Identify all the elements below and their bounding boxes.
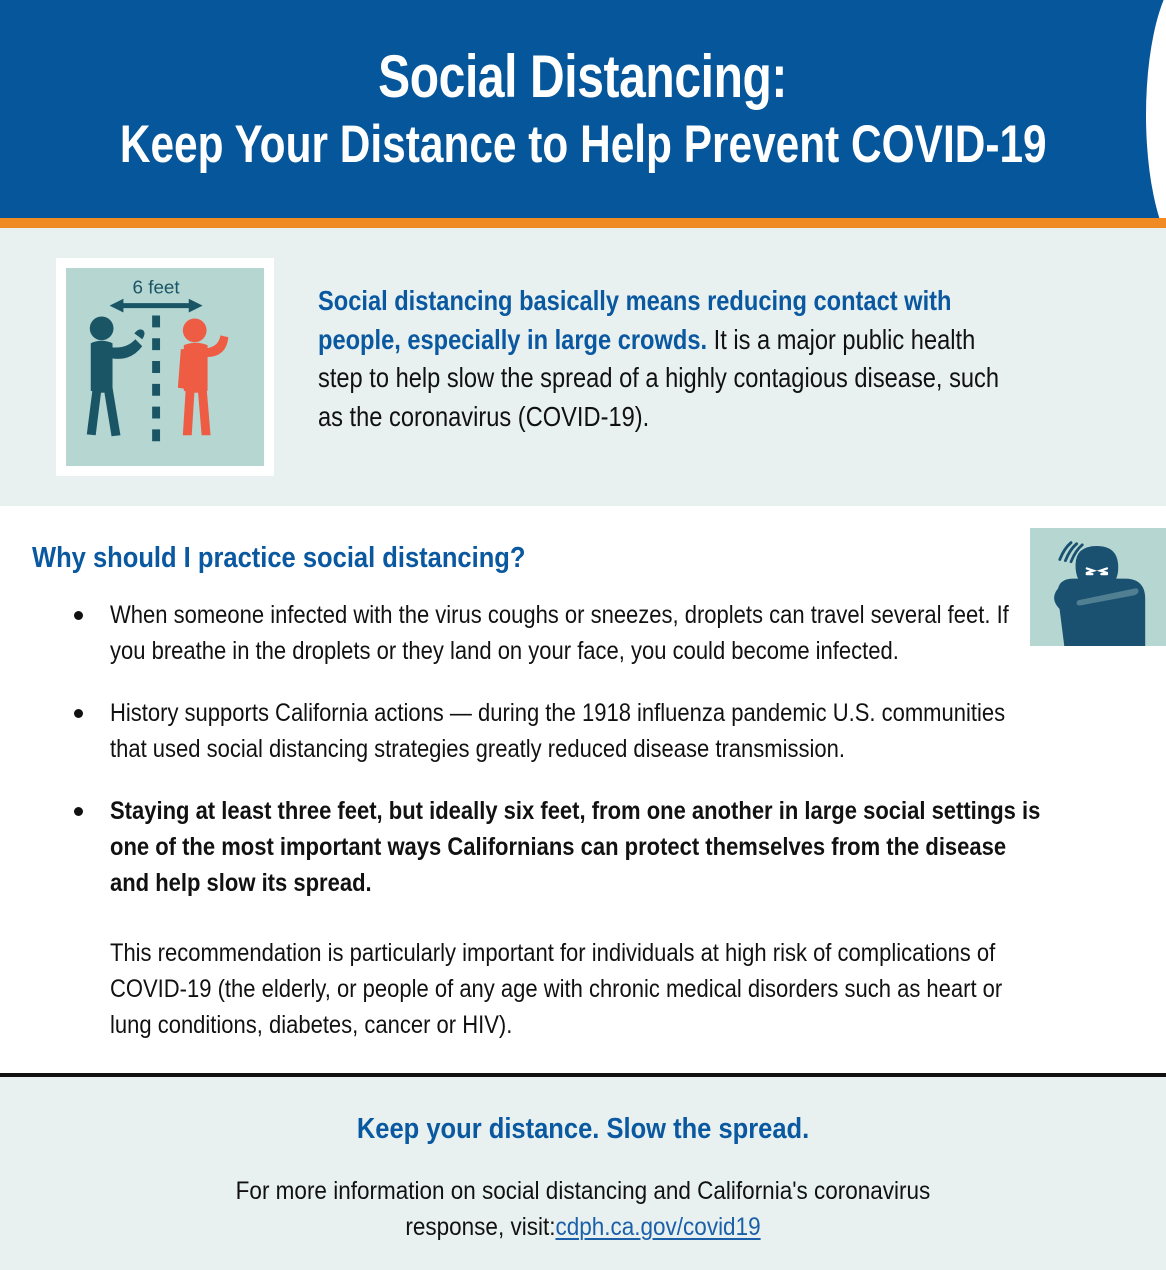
page-footer: Keep your distance. Slow the spread. For…	[0, 1077, 1166, 1270]
person-sneezing-into-elbow-icon	[1030, 528, 1166, 646]
six-feet-distance-svg: 6 feet	[66, 268, 264, 466]
infographic-page: Social Distancing: Keep Your Distance to…	[0, 0, 1166, 1270]
six-feet-illustration: 6 feet	[66, 268, 264, 466]
footer-tagline: Keep your distance. Slow the spread.	[357, 1113, 809, 1146]
arrow-head-left	[110, 299, 124, 313]
header-edge-curve	[1146, 0, 1166, 218]
orange-divider	[0, 218, 1166, 228]
arrow-head-right	[189, 299, 203, 313]
list-item: Staying at least three feet, but ideally…	[32, 793, 1042, 901]
main-content: Why should I practice social distancing?…	[0, 506, 1166, 1073]
closing-paragraph: This recommendation is particularly impo…	[110, 935, 1040, 1043]
page-title: Social Distancing:	[379, 46, 788, 107]
list-item-text: History supports California actions — du…	[110, 695, 1042, 767]
six-feet-illustration-frame: 6 feet	[56, 258, 274, 476]
cdph-covid19-link[interactable]: cdph.ca.gov/covid19	[555, 1213, 760, 1241]
list-item: History supports California actions — du…	[32, 695, 1042, 767]
page-subtitle: Keep Your Distance to Help Prevent COVID…	[120, 117, 1047, 173]
section-heading: Why should I practice social distancing?	[32, 542, 1000, 575]
footer-tagline-wrap: Keep your distance. Slow the spread.	[40, 1113, 1126, 1174]
page-header: Social Distancing: Keep Your Distance to…	[0, 0, 1166, 218]
closing-paragraph-text: This recommendation is particularly impo…	[110, 935, 1040, 1043]
intro-paragraph: Social distancing basically means reduci…	[318, 256, 1013, 436]
figure-right-coral	[178, 318, 228, 435]
distance-label: 6 feet	[133, 277, 181, 298]
list-item: When someone infected with the virus cou…	[32, 597, 1042, 669]
list-item-text: Staying at least three feet, but ideally…	[110, 793, 1042, 901]
sneeze-icon-svg	[1030, 528, 1166, 646]
footer-note: For more information on social distancin…	[193, 1174, 973, 1245]
list-item-text: When someone infected with the virus cou…	[110, 597, 1042, 669]
figure-left-teal	[87, 317, 145, 437]
reasons-list: When someone infected with the virus cou…	[32, 597, 1042, 901]
footer-note-inner: For more information on social distancin…	[232, 1174, 934, 1245]
intro-band: 6 feet Social distancing basically means…	[0, 228, 1166, 506]
